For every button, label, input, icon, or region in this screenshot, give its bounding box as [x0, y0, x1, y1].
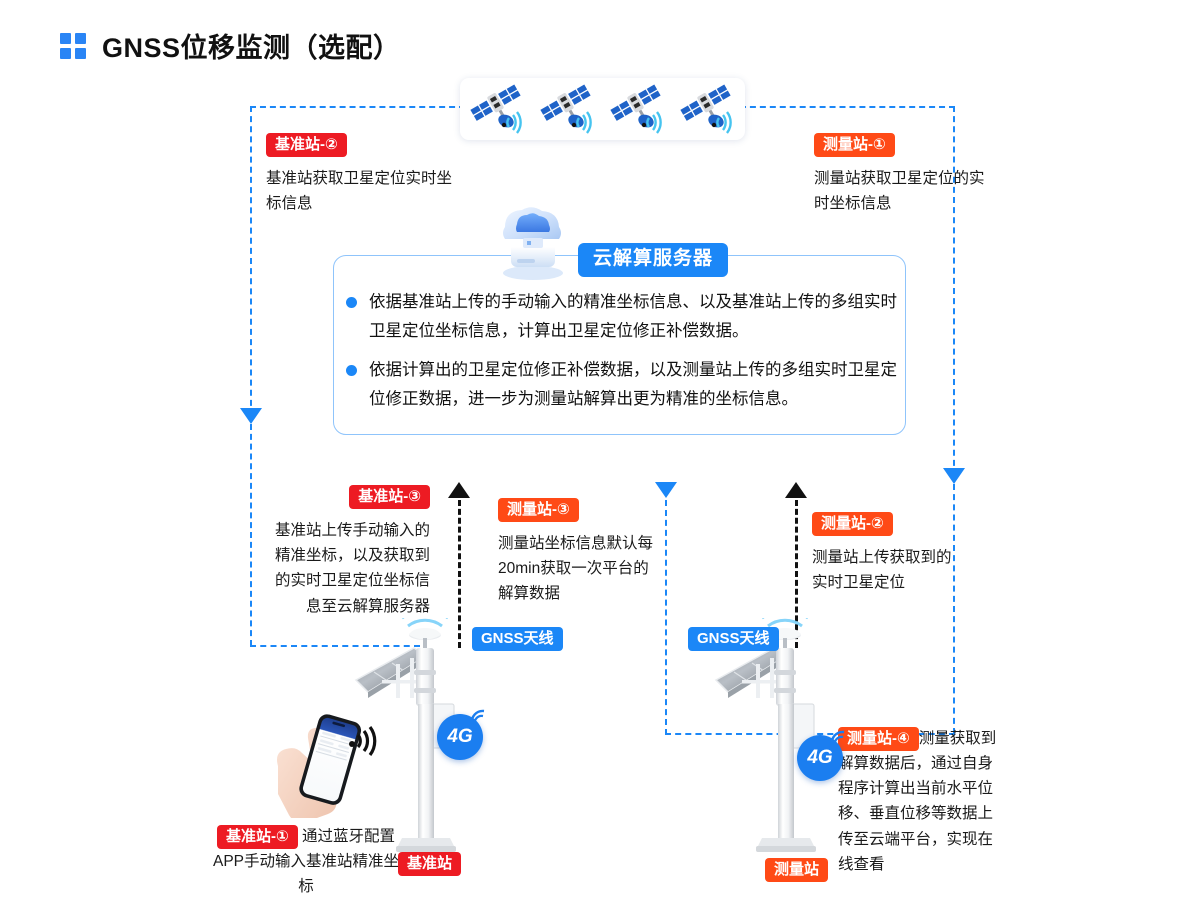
bullet-item: 依据计算出的卫星定位修正补偿数据，以及测量站上传的多组实时卫星定位修正数据，进一…: [346, 356, 898, 415]
pole-upper: [776, 648, 794, 706]
page-title: GNSS位移监测（选配）: [102, 26, 401, 65]
cloud-server-bullets: 依据基准站上传的手动输入的精准坐标信息、以及基准站上传的多组实时卫星定位坐标信息…: [346, 288, 898, 423]
satellite-icon: [460, 78, 745, 140]
bullet-text: 依据基准站上传的手动输入的精准坐标信息、以及基准站上传的多组实时卫星定位坐标信息…: [369, 288, 898, 347]
dashed-line-top-left: [250, 106, 475, 108]
pole-icon: [418, 704, 434, 838]
rover-station-name-label: 测量站: [765, 858, 828, 882]
bullet-dot-icon: [346, 365, 357, 376]
rover-4g-signal-icon: [828, 729, 850, 751]
note-base-2: 基准站-② 基准站获取卫星定位实时坐标信息: [266, 133, 461, 216]
rover-station-antenna-label: GNSS天线: [688, 627, 779, 651]
bullet-text: 依据计算出的卫星定位修正补偿数据，以及测量站上传的多组实时卫星定位修正数据，进一…: [369, 356, 898, 415]
page-header: GNSS位移监测（选配）: [60, 26, 401, 65]
arrow-down-inner-right: [655, 482, 677, 498]
rover-station-name-text: 测量站: [765, 858, 828, 882]
pole-icon: [778, 704, 794, 838]
dashed-line-inner-right-vertical: [665, 500, 667, 735]
arrow-down-right: [943, 468, 965, 484]
note-rover-2: 测量站-② 测量站上传获取到的实时卫星定位: [812, 512, 962, 595]
note-rover-2-text: 测量站上传获取到的实时卫星定位: [812, 545, 962, 595]
pole-upper: [416, 648, 434, 706]
badge-rover-1: 测量站-①: [814, 133, 895, 157]
gnss-antenna-icon: [409, 628, 441, 650]
badge-base-1: 基准站-①: [217, 825, 298, 849]
base-4g-signal-icon: [468, 708, 490, 730]
note-base-3: 基准站-③ 基准站上传手动输入的精准坐标，以及获取到的实时卫星定位坐标信息至云解…: [262, 485, 430, 619]
note-base-3-text: 基准站上传手动输入的精准坐标，以及获取到的实时卫星定位坐标信息至云解算服务器: [262, 518, 430, 618]
base-station-name-text: 基准站: [398, 852, 461, 876]
note-rover-3-text: 测量站坐标信息默认每20min获取一次平台的解算数据: [498, 531, 658, 606]
dashed-line-left-vertical: [250, 106, 252, 416]
dashed-line-left-vertical-lower: [250, 424, 252, 646]
badge-rover-3: 测量站-③: [498, 498, 579, 522]
diagram-canvas: GNSS位移监测（选配）: [0, 0, 1200, 919]
base-antenna-label-text: GNSS天线: [472, 627, 563, 651]
note-base-2-text: 基准站获取卫星定位实时坐标信息: [266, 166, 461, 216]
base-station-name-label: 基准站: [398, 852, 461, 876]
badge-rover-2: 测量站-②: [812, 512, 893, 536]
badge-base-3: 基准站-③: [349, 485, 430, 509]
base-station-antenna-label: GNSS天线: [472, 627, 563, 651]
arrow-up-rover: [785, 482, 807, 498]
bullet-item: 依据基准站上传的手动输入的精准坐标信息、以及基准站上传的多组实时卫星定位坐标信息…: [346, 288, 898, 347]
cloud-server-title: 云解算服务器: [578, 243, 728, 277]
note-rover-4-text: 测量获取到解算数据后，通过自身程序计算出当前水平位移、垂直位移等数据上传至云端平…: [838, 730, 996, 873]
note-rover-1-text: 测量站获取卫星定位的实时坐标信息: [814, 166, 989, 216]
cloud-server-icon: [487, 207, 579, 281]
note-rover-1: 测量站-① 测量站获取卫星定位的实时坐标信息: [814, 133, 989, 216]
note-rover-3: 测量站-③ 测量站坐标信息默认每20min获取一次平台的解算数据: [498, 498, 658, 607]
satellite-group: [460, 78, 745, 140]
grid-squares-icon: [60, 33, 86, 59]
arrow-down-left: [240, 408, 262, 424]
badge-base-2: 基准站-②: [266, 133, 347, 157]
bullet-dot-icon: [346, 297, 357, 308]
dashed-line-top-right: [730, 106, 955, 108]
note-rover-4: 测量站-④测量获取到解算数据后，通过自身程序计算出当前水平位移、垂直位移等数据上…: [838, 726, 998, 877]
arrow-up-base: [448, 482, 470, 498]
hand-holding-phone-icon: [272, 708, 382, 818]
cloud-server-title-label: 云解算服务器: [578, 243, 728, 277]
rover-antenna-label-text: GNSS天线: [688, 627, 779, 651]
badge-rover-4: 测量站-④: [838, 727, 919, 751]
